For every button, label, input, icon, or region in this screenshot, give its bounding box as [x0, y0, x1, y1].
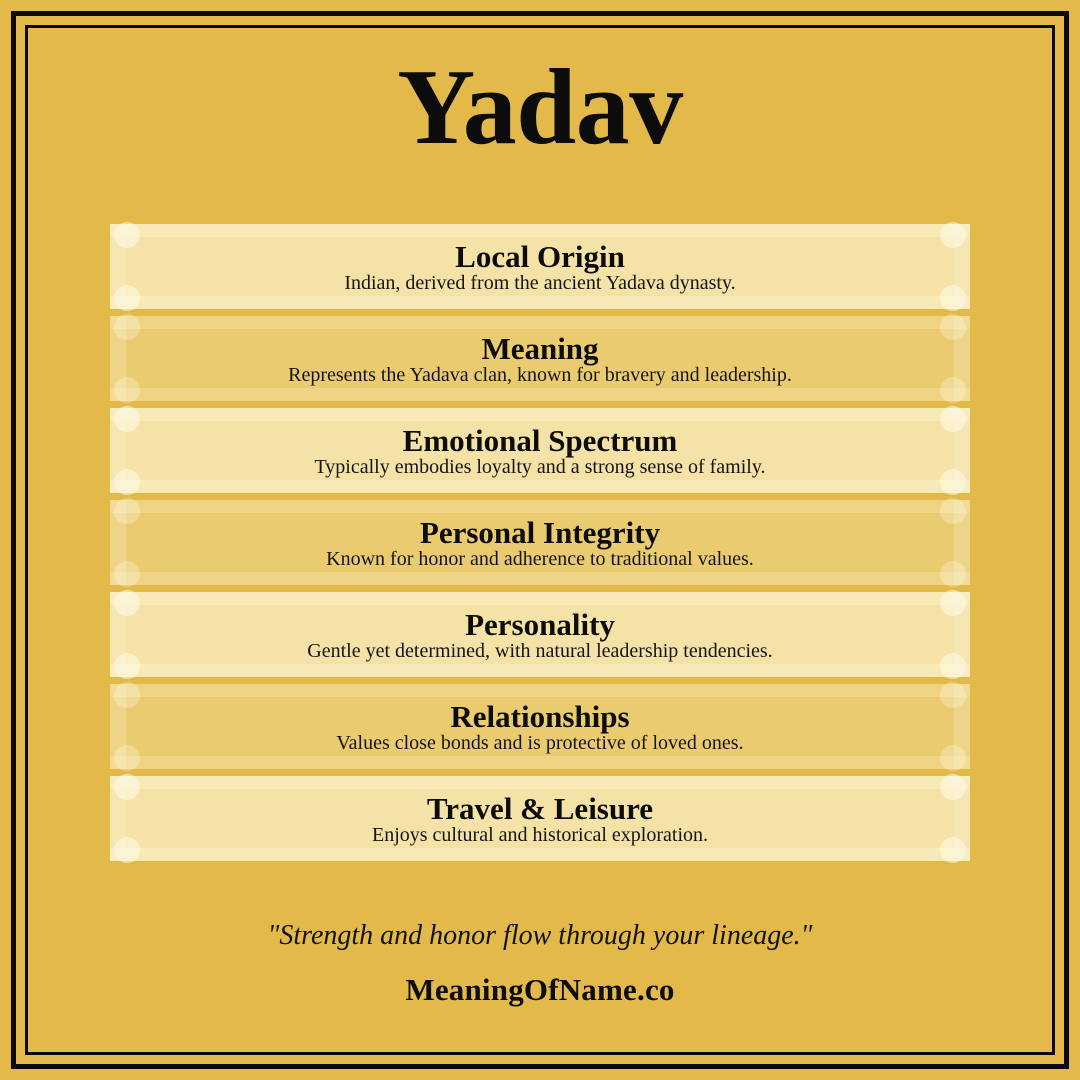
attribute-card-list: Local OriginIndian, derived from the anc…	[28, 224, 1052, 868]
card-top-band	[110, 224, 970, 237]
card-text: Local OriginIndian, derived from the anc…	[110, 241, 970, 293]
card-bottom-band	[110, 848, 970, 861]
poster-outer-border: Yadav Local OriginIndian, derived from t…	[11, 11, 1069, 1069]
card-description: Enjoys cultural and historical explorati…	[150, 825, 930, 845]
card-description: Known for honor and adherence to traditi…	[150, 549, 930, 569]
card-bottom-band	[110, 388, 970, 401]
attribute-card: Travel & LeisureEnjoys cultural and hist…	[110, 776, 970, 861]
card-heading: Local Origin	[150, 241, 930, 272]
card-text: Travel & LeisureEnjoys cultural and hist…	[110, 793, 970, 845]
attribute-card: Personal IntegrityKnown for honor and ad…	[110, 500, 970, 585]
name-meaning-poster: Yadav Local OriginIndian, derived from t…	[0, 0, 1080, 1080]
card-description: Represents the Yadava clan, known for br…	[150, 365, 930, 385]
attribute-card: PersonalityGentle yet determined, with n…	[110, 592, 970, 677]
card-text: PersonalityGentle yet determined, with n…	[110, 609, 970, 661]
card-top-band	[110, 684, 970, 697]
poster-inner-border: Yadav Local OriginIndian, derived from t…	[25, 25, 1055, 1055]
card-description: Typically embodies loyalty and a strong …	[150, 457, 930, 477]
card-description: Gentle yet determined, with natural lead…	[150, 641, 930, 661]
card-heading: Emotional Spectrum	[150, 425, 930, 456]
card-bottom-band	[110, 480, 970, 493]
attribute-card: RelationshipsValues close bonds and is p…	[110, 684, 970, 769]
card-top-band	[110, 592, 970, 605]
card-text: RelationshipsValues close bonds and is p…	[110, 701, 970, 753]
attribute-card: Local OriginIndian, derived from the anc…	[110, 224, 970, 309]
card-text: Personal IntegrityKnown for honor and ad…	[110, 517, 970, 569]
card-top-band	[110, 776, 970, 789]
card-bottom-band	[110, 756, 970, 769]
card-text: MeaningRepresents the Yadava clan, known…	[110, 333, 970, 385]
attribute-card: MeaningRepresents the Yadava clan, known…	[110, 316, 970, 401]
page-title: Yadav	[28, 54, 1052, 162]
card-top-band	[110, 500, 970, 513]
tagline-quote: "Strength and honor flow through your li…	[28, 919, 1052, 953]
card-bottom-band	[110, 664, 970, 677]
card-bottom-band	[110, 572, 970, 585]
card-heading: Travel & Leisure	[150, 793, 930, 824]
card-heading: Meaning	[150, 333, 930, 364]
brand-name: MeaningOfName.co	[28, 971, 1052, 1008]
attribute-card: Emotional SpectrumTypically embodies loy…	[110, 408, 970, 493]
card-top-band	[110, 316, 970, 329]
card-heading: Personality	[150, 609, 930, 640]
card-heading: Personal Integrity	[150, 517, 930, 548]
card-description: Values close bonds and is protective of …	[150, 733, 930, 753]
poster-footer: "Strength and honor flow through your li…	[28, 919, 1052, 1008]
card-heading: Relationships	[150, 701, 930, 732]
card-text: Emotional SpectrumTypically embodies loy…	[110, 425, 970, 477]
card-description: Indian, derived from the ancient Yadava …	[150, 273, 930, 293]
card-top-band	[110, 408, 970, 421]
card-bottom-band	[110, 296, 970, 309]
